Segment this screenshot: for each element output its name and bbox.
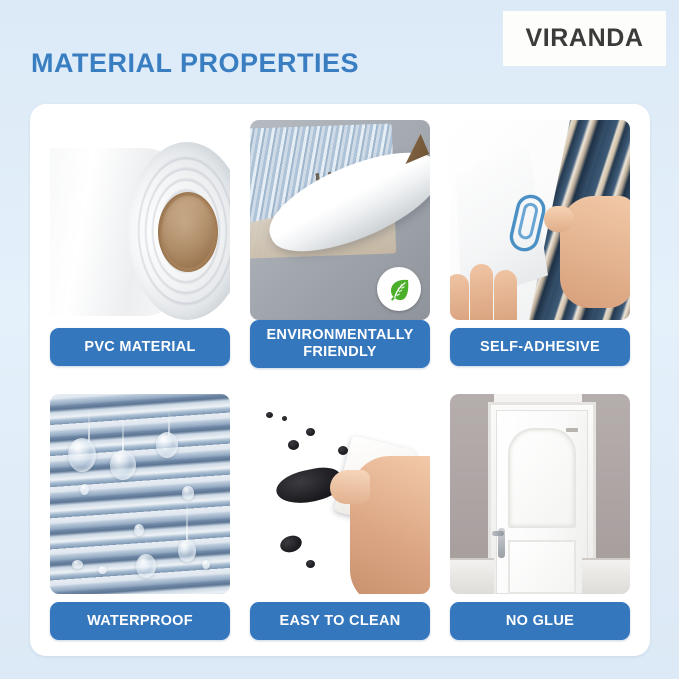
feature-label-waterproof: WATERPROOF [50,602,230,640]
feature-tile-pvc-material[interactable]: PVC MATERIAL [50,120,230,366]
door-handle-icon [498,528,505,558]
feature-tile-easy-to-clean[interactable]: EASY TO CLEAN [250,394,430,640]
feature-tile-no-glue[interactable]: NO GLUE [450,394,630,640]
easy-to-clean-image [250,394,430,594]
features-grid: PVC MATERIAL ENVIRONMENTALLY FRIENDLY [50,120,630,640]
eco-peel-image [250,120,430,320]
brand-logo: VIRANDA [503,11,666,66]
page-header: MATERIAL PROPERTIES VIRANDA [0,0,679,105]
hand-holding-sponge [350,456,430,594]
feature-tile-self-adhesive[interactable]: SELF-ADHESIVE [450,120,630,366]
feature-label-self-adhesive: SELF-ADHESIVE [450,328,630,366]
feature-label-environmentally-friendly: ENVIRONMENTALLY FRIENDLY [250,320,430,368]
left-hand [450,240,536,320]
pvc-roll-image [50,120,230,320]
feature-label-pvc-material: PVC MATERIAL [50,328,230,366]
feature-tile-waterproof[interactable]: WATERPROOF [50,394,230,640]
no-glue-door-image [450,394,630,594]
green-leaf-eco-icon [377,267,421,311]
feature-label-no-glue: NO GLUE [450,602,630,640]
features-card: PVC MATERIAL ENVIRONMENTALLY FRIENDLY [30,104,650,656]
waterproof-droplets-image [50,394,230,594]
feature-label-easy-to-clean: EASY TO CLEAN [250,602,430,640]
self-adhesive-peel-image [450,120,630,320]
feature-tile-environmentally-friendly[interactable]: ENVIRONMENTALLY FRIENDLY [250,120,430,366]
right-hand [560,196,630,308]
page-title: MATERIAL PROPERTIES [31,48,359,79]
brand-logo-text: VIRANDA [525,24,643,53]
